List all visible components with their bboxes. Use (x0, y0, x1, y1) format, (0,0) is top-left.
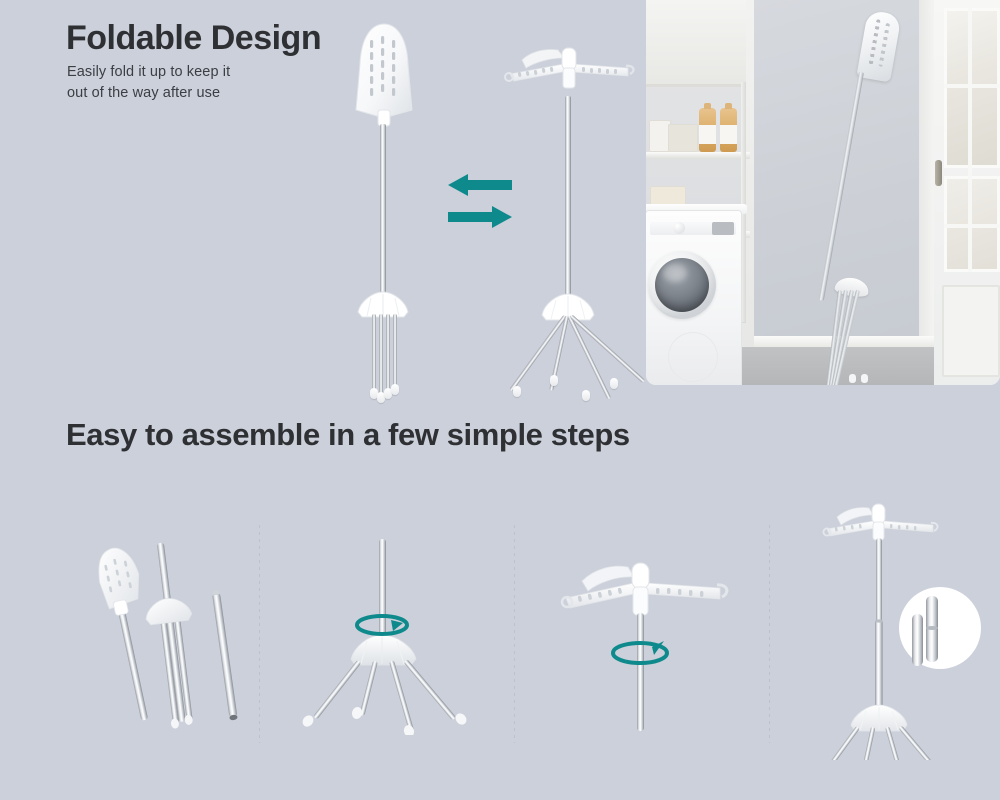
page-subtitle: Easily fold it up to keep it out of the … (67, 62, 230, 104)
photo-door-mullion (944, 224, 1000, 228)
step-2-illustration (285, 535, 495, 735)
photo-bottle (699, 108, 716, 152)
photo-upper-cabinet (646, 0, 746, 87)
folded-head-icon (349, 18, 419, 128)
step-divider (514, 525, 515, 743)
rack-folded-illustration (340, 18, 430, 388)
step-1-parts-icon (70, 530, 255, 730)
photo-bottle (720, 108, 737, 152)
photo-washer-display (712, 222, 734, 235)
unfolded-pole (565, 96, 571, 296)
photo-rack-foot (861, 374, 868, 383)
photo-door-mullion (968, 8, 972, 272)
folded-leg (393, 314, 397, 388)
assembly-steps: 1 (0, 495, 1000, 765)
page-title: Foldable Design (66, 20, 321, 57)
photo-washer-detail (668, 332, 718, 382)
step-divider (259, 525, 260, 743)
unfolded-arms-icon (500, 38, 640, 98)
telescoping-tube-detail-inset (899, 587, 981, 669)
unfolded-foot (550, 375, 558, 386)
step-4-illustration (793, 500, 993, 760)
photo-door-glass-upper (944, 8, 1000, 168)
folded-leg (379, 314, 383, 396)
photo-bottle-label (720, 125, 737, 144)
rack-unfolded-illustration (500, 38, 640, 388)
unfolded-foot (610, 378, 618, 389)
folded-hub (356, 290, 410, 320)
assembly-section-title: Easy to assemble in a few simple steps (66, 417, 630, 453)
step-1-illustration (70, 530, 255, 730)
photo-rack-foot (849, 374, 856, 383)
step-divider (769, 525, 770, 743)
photo-washer-knob (673, 222, 685, 234)
step-3-top-icon (560, 555, 760, 735)
folded-pole (380, 124, 386, 294)
step-2-base-icon (285, 535, 495, 735)
infographic-page: Foldable Design Easily fold it up to kee… (0, 0, 1000, 800)
folded-leg (372, 314, 376, 392)
photo-bottle-label (699, 125, 716, 144)
photo-shelf (646, 152, 750, 159)
photo-shelf-post (741, 82, 746, 322)
photo-door-handle (935, 160, 942, 186)
folded-foot (391, 384, 399, 395)
unfolded-leg (567, 315, 611, 399)
step-4-assembled-icon (793, 500, 993, 760)
folded-leg (386, 314, 390, 392)
unfolded-foot (582, 390, 590, 401)
unfolded-leg (570, 315, 646, 384)
photo-door-panel (942, 285, 1000, 377)
photo-washer-door-glass (655, 258, 709, 312)
laundry-room-photo (646, 0, 1000, 385)
unfolded-foot (513, 386, 521, 397)
step-3-illustration (560, 555, 760, 735)
photo-door-mullion (944, 84, 1000, 88)
photo-glass-jar (668, 124, 698, 152)
